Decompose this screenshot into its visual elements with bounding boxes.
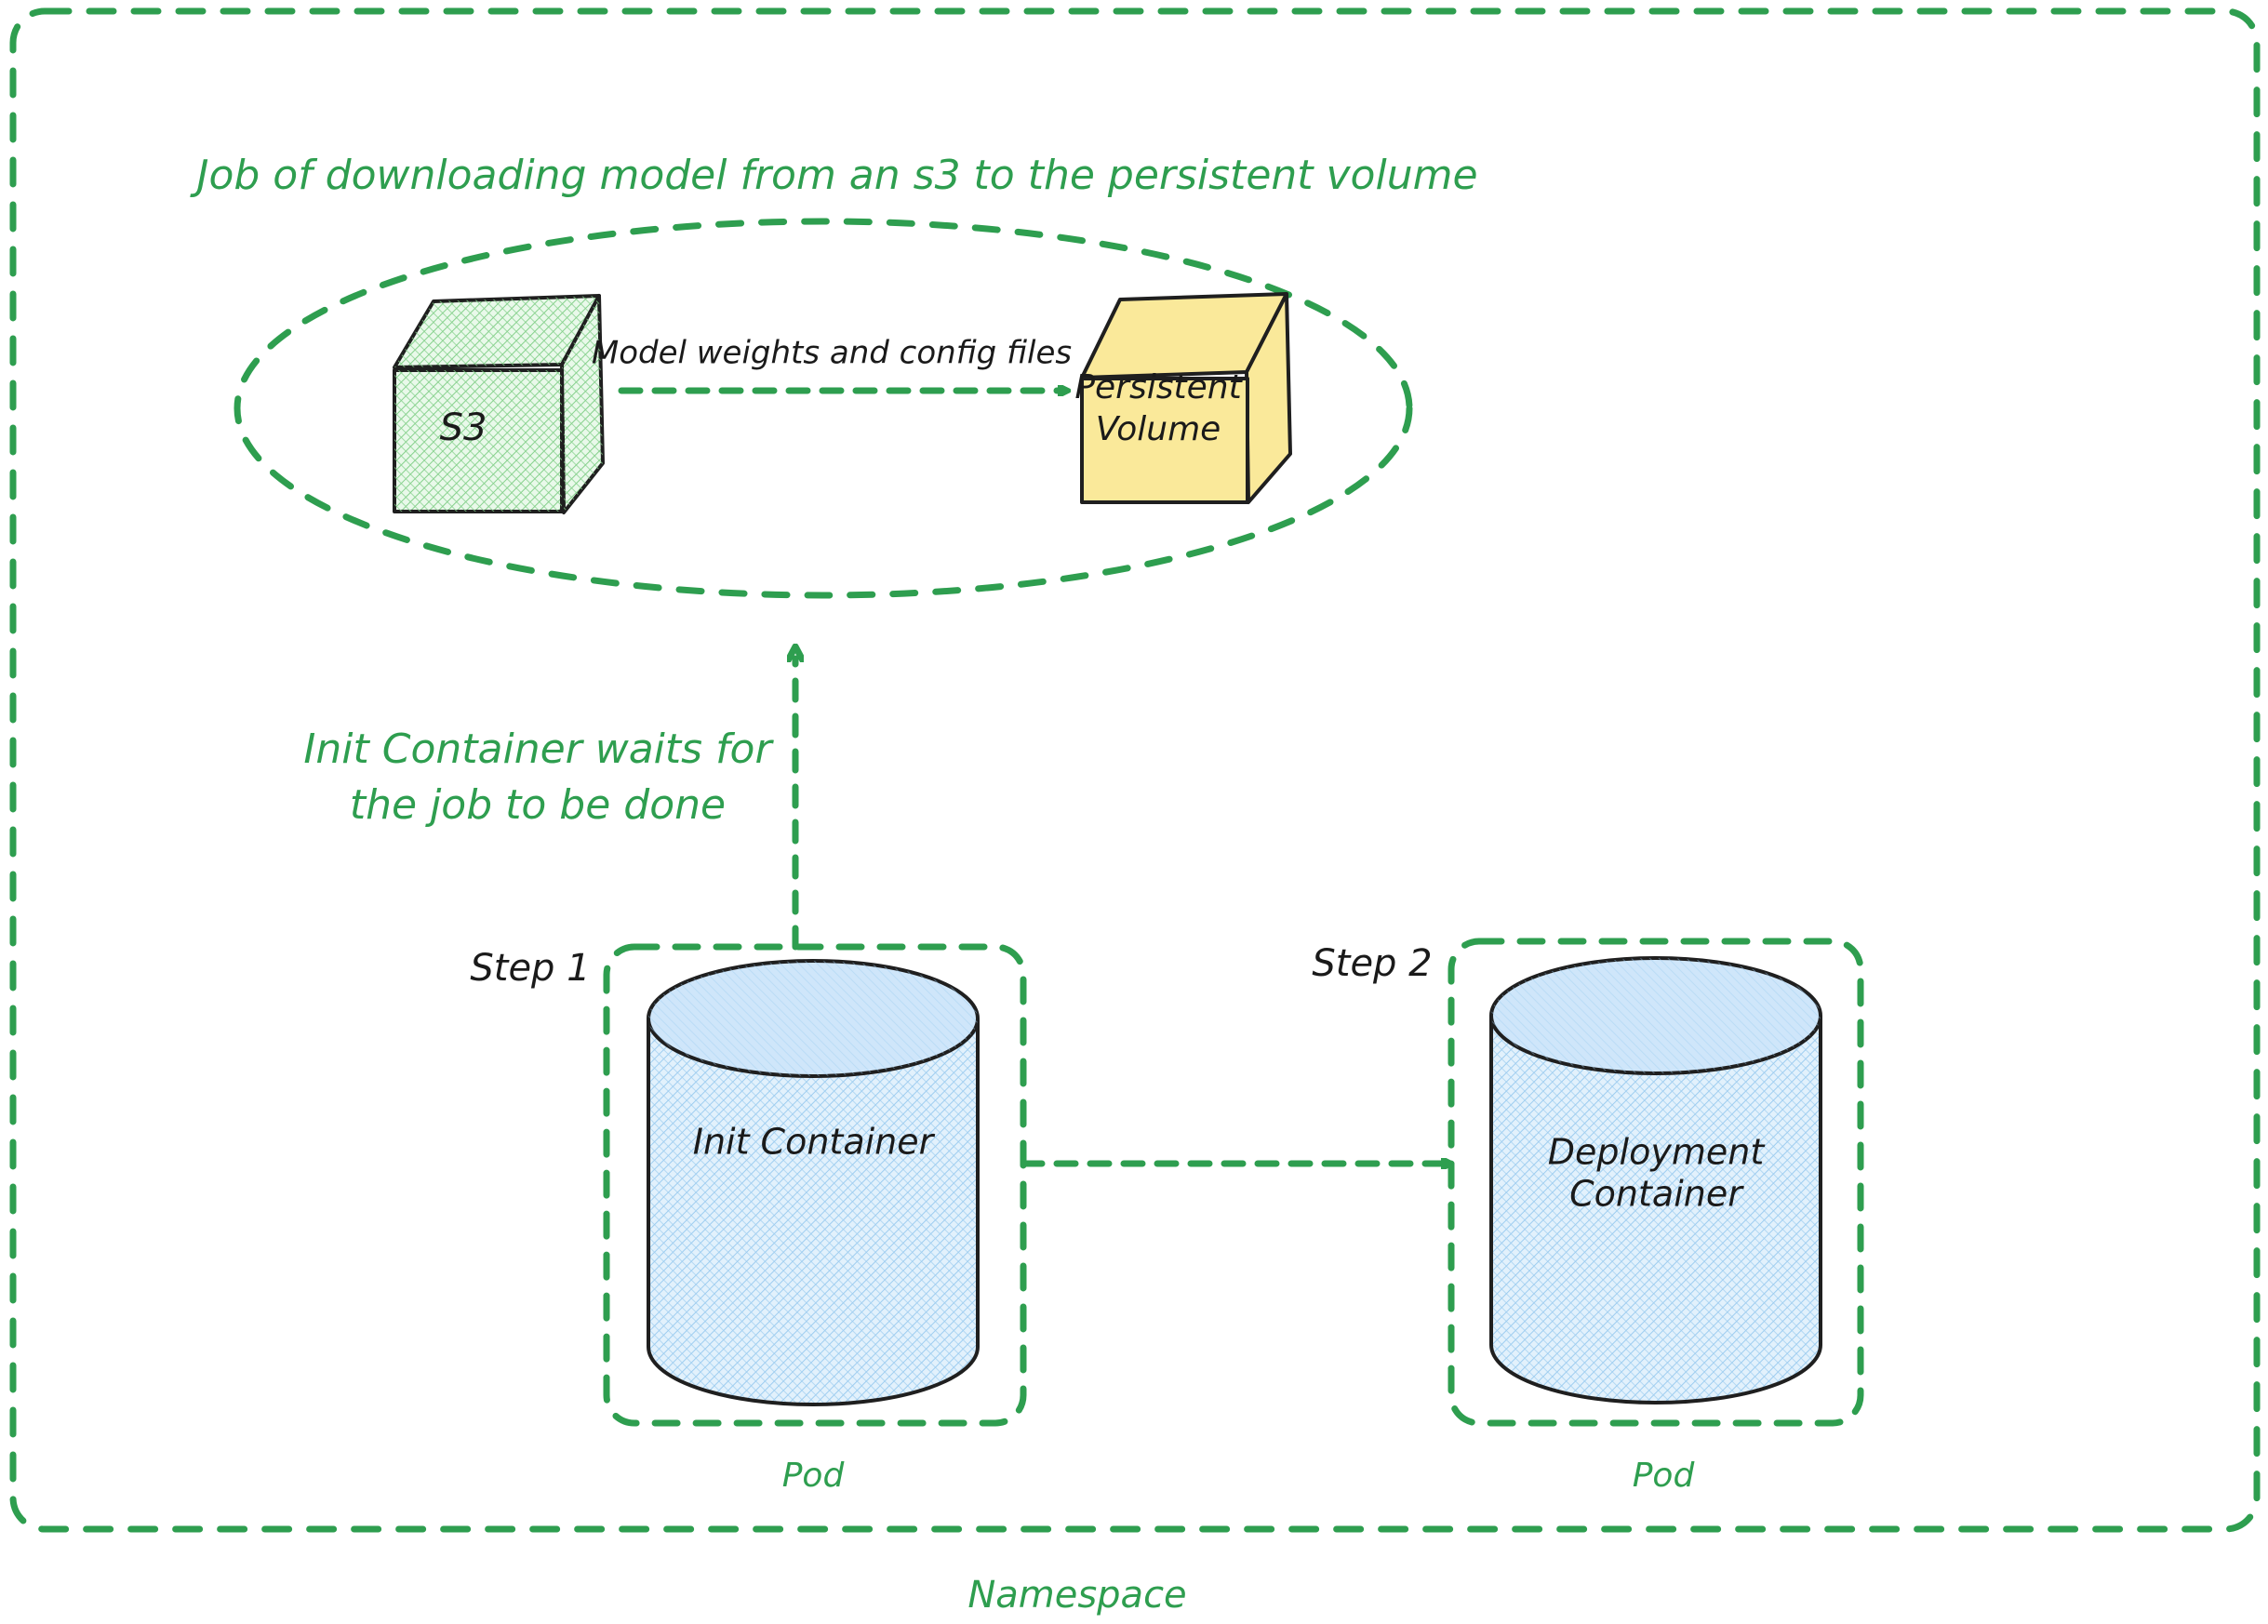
deployment-container-label-line1: Deployment	[1548, 1132, 1767, 1173]
pod-2-label: Pod	[1633, 1457, 1696, 1495]
edge-label-model-weights: Model weights and config files	[592, 335, 1072, 372]
init-container-label: Init Container	[693, 1122, 936, 1163]
s3-cube: S3	[394, 296, 603, 512]
deployment-container-cylinder: Deployment Container	[1491, 958, 1821, 1403]
wait-edge-label-line1: Init Container waits for	[303, 725, 774, 773]
init-container-cylinder: Init Container	[648, 961, 978, 1404]
s3-label: S3	[440, 406, 487, 449]
wait-edge-label-line2: the job to be done	[350, 781, 726, 829]
persistent-volume-label-line1: Persistent	[1074, 368, 1243, 406]
namespace-label: Namespace	[967, 1574, 1186, 1617]
deployment-container-label-line2: Container	[1569, 1174, 1744, 1215]
diagram-canvas: S3 Persistent Volume Init	[0, 0, 2268, 1624]
step-1-label: Step 1	[470, 947, 590, 990]
persistent-volume-cube: Persistent Volume	[1074, 294, 1290, 502]
persistent-volume-label-line2: Volume	[1096, 410, 1221, 448]
diagram-svg: S3 Persistent Volume Init	[0, 0, 2268, 1624]
pod-1-label: Pod	[782, 1457, 846, 1495]
job-group-title: Job of downloading model from an s3 to t…	[189, 152, 1477, 199]
step-2-label: Step 2	[1312, 942, 1432, 985]
